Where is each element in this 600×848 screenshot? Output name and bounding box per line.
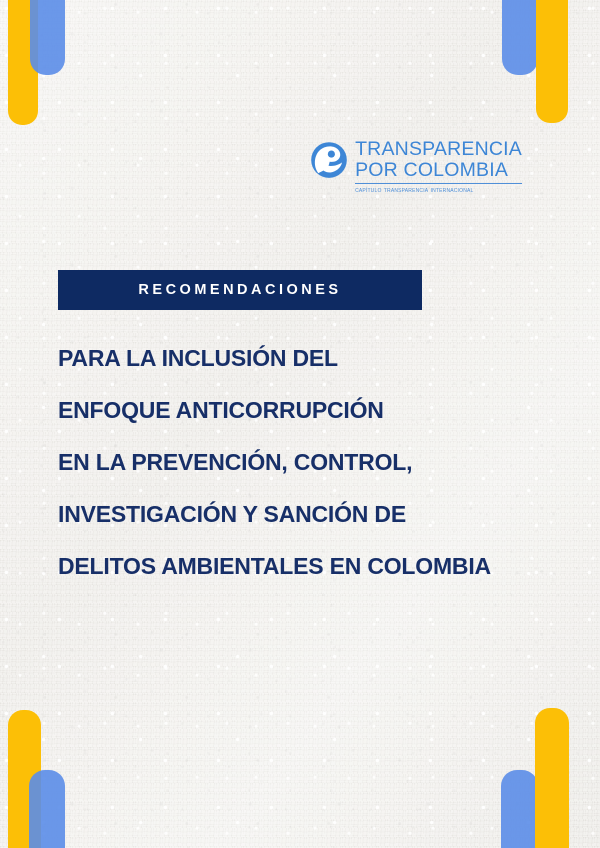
decoration-bottom-right-yellow-bar (535, 708, 569, 848)
title-line: DELITOS AMBIENTALES EN COLOMBIA (58, 540, 558, 592)
title-line: INVESTIGACIÓN Y SANCIÓN DE (58, 488, 558, 540)
decoration-top-right-yellow-bar (536, 0, 568, 123)
decoration-bottom-left-blue-bar (29, 770, 65, 848)
logo-word-line-1: TRANSPARENCIA (355, 139, 522, 160)
title-line: PARA LA INCLUSIÓN DEL (58, 332, 558, 384)
logo-divider-rule (355, 183, 522, 184)
category-banner-label: RECOMENDACIONES (138, 283, 341, 298)
document-cover-page: TRANSPARENCIA POR COLOMBIA Capítulo Tran… (0, 0, 600, 848)
decoration-top-right-blue-bar (502, 0, 538, 75)
logo-tagline: Capítulo Transparencia Internacional (355, 186, 522, 194)
title-line: EN LA PREVENCIÓN, CONTROL, (58, 436, 558, 488)
logo-word-line-2: POR COLOMBIA (355, 160, 522, 181)
decoration-bottom-right-blue-bar (501, 770, 538, 848)
logo-wordmark: TRANSPARENCIA POR COLOMBIA Capítulo Tran… (355, 139, 522, 195)
organization-logo: TRANSPARENCIA POR COLOMBIA Capítulo Tran… (310, 139, 522, 195)
transparencia-por-colombia-logomark-icon (310, 141, 348, 179)
decoration-top-left-blue-bar (30, 0, 65, 75)
title-line: ENFOQUE ANTICORRUPCIÓN (58, 384, 558, 436)
category-banner: RECOMENDACIONES (58, 270, 422, 310)
document-title: PARA LA INCLUSIÓN DEL ENFOQUE ANTICORRUP… (58, 332, 558, 592)
